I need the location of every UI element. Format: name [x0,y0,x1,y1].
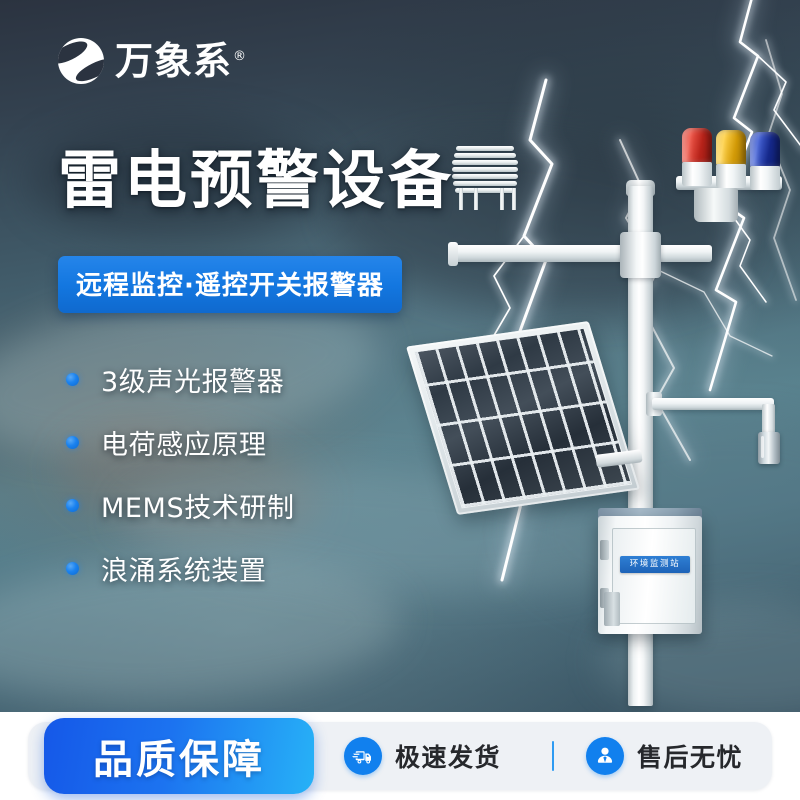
blue-beacon [750,132,780,190]
sensor-leg [500,188,504,210]
beacon-shelf-hub [694,188,738,222]
trust-bar: 品质保障 极速发货 [28,722,772,790]
brand-name: 万象系® [115,42,247,80]
enclosure-door [612,528,696,624]
bullet-dot-icon [66,436,79,449]
sensor-leg [512,188,516,210]
list-item: 3级声光报警器 [66,348,426,411]
trust-item-service[interactable]: 售后无忧 [586,737,743,775]
registered-mark: ® [233,49,247,64]
trust-divider [552,741,554,771]
cylinder-sensor [758,432,780,464]
quality-badge[interactable]: 品质保障 [44,718,314,794]
page-title: 雷电预警设备 [58,148,454,214]
enclosure-label: 环境监测站 [620,556,690,573]
solar-panel [406,321,640,515]
bullet-dot-icon [66,373,79,386]
subtitle-banner: 远程监控·遥控开关报警器 [58,256,402,313]
ad-banner: 环境监测站 万象系® 雷电预警设备 远程监控·遥控开关报警器 3级声光报警器 电… [0,0,800,800]
feature-label: MEMS技术研制 [101,486,295,525]
sensor-leg [474,188,478,210]
camera-arm-horizontal [652,398,774,410]
swoosh-circle-logo-icon [58,38,104,84]
trust-item-label: 售后无忧 [637,738,743,774]
red-beacon [682,128,712,186]
feature-label: 电荷感应原理 [101,423,267,462]
enclosure-hinge [600,540,609,560]
crossarm-tip [448,242,458,266]
mast-collar [620,232,661,278]
delivery-truck-icon [344,737,382,775]
sensor-leg [459,188,463,210]
quality-badge-label: 品质保障 [93,727,265,785]
trust-item-label: 极速发货 [395,738,501,774]
trust-item-shipping[interactable]: 极速发货 [344,737,501,775]
list-item: 电荷感应原理 [66,411,426,474]
support-agent-icon [586,737,624,775]
list-item: 浪涌系统装置 [66,537,426,600]
bullet-dot-icon [66,562,79,575]
radiation-shield-sensor-icon [452,146,518,194]
feature-list: 3级声光报警器 电荷感应原理 MEMS技术研制 浪涌系统装置 [66,348,426,600]
trust-bar-area: 品质保障 极速发货 [0,712,800,800]
crossarm [452,245,712,262]
bullet-dot-icon [66,499,79,512]
enclosure-vent [604,592,620,626]
list-item: MEMS技术研制 [66,474,426,537]
amber-beacon [716,130,746,188]
feature-label: 3级声光报警器 [101,360,284,399]
brand-logo: 万象系® [58,38,247,84]
feature-label: 浪涌系统装置 [101,549,267,588]
brand-name-text: 万象系 [115,39,232,83]
